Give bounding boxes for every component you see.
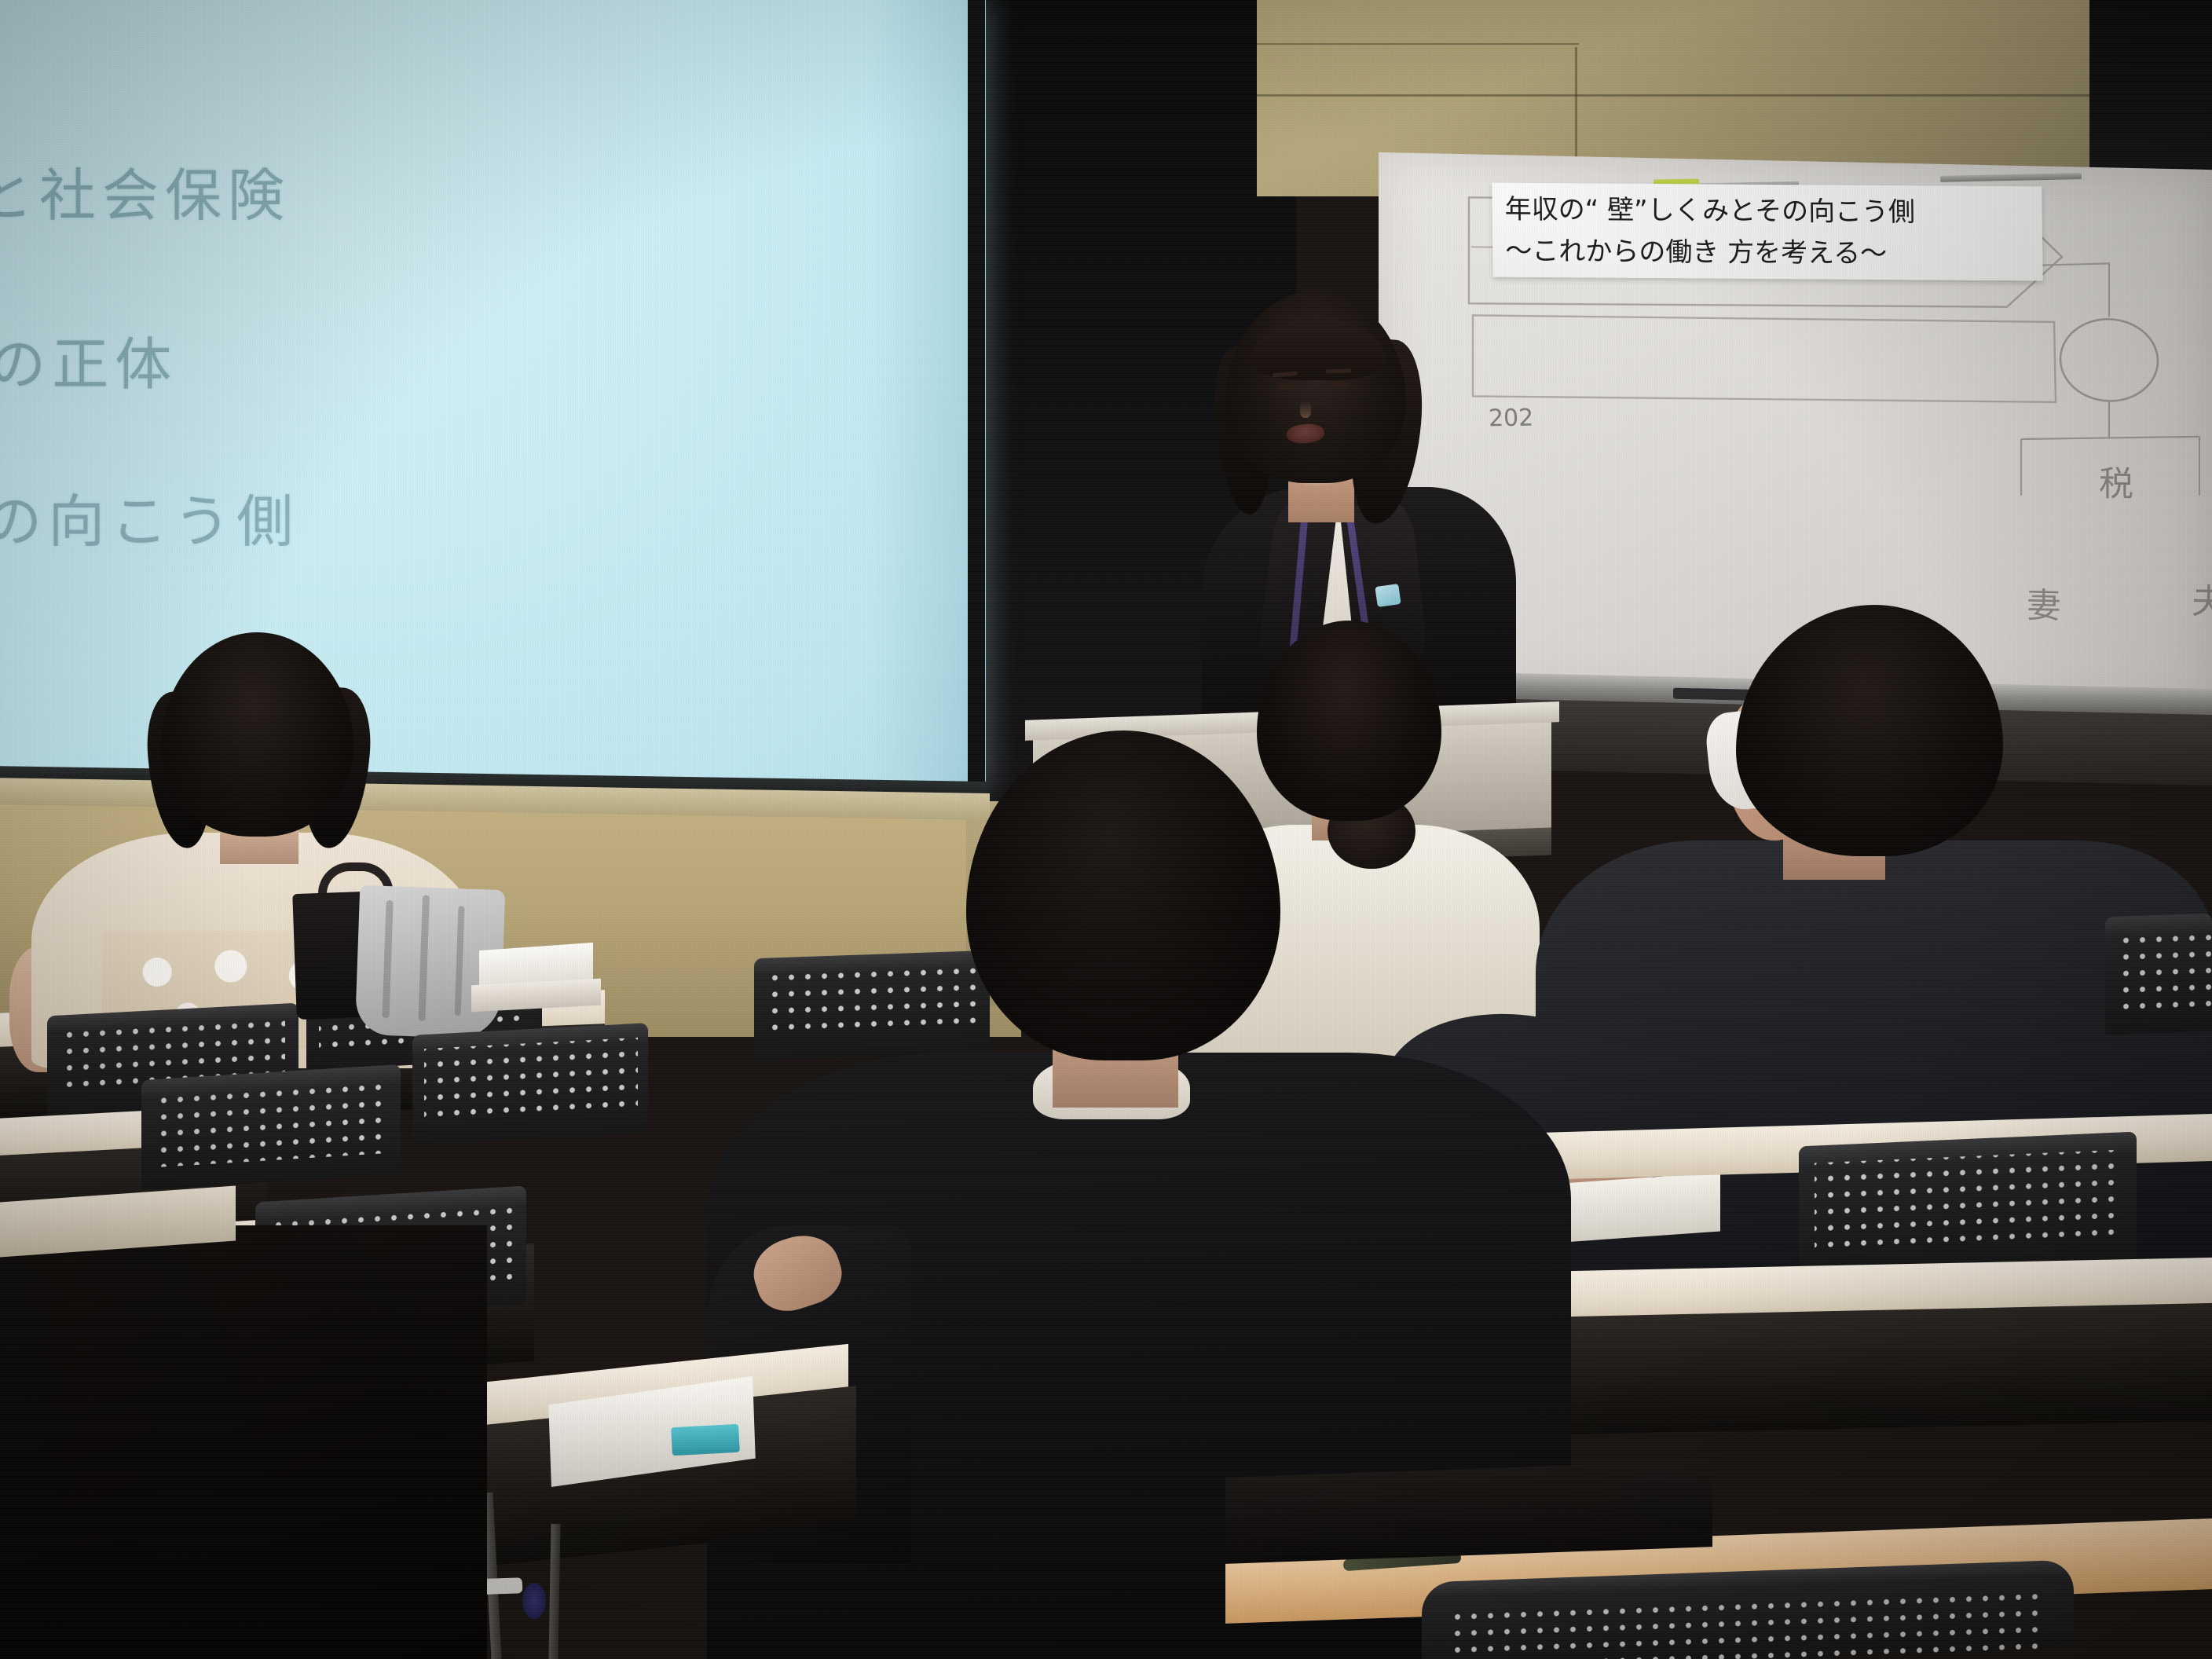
presenter-nose: [1300, 401, 1311, 418]
slide-line-2: ” の正体: [0, 318, 178, 401]
tripod-leg-3: [549, 1524, 561, 1659]
whiteboard-node-tax: 税: [2099, 456, 2133, 507]
seminar-room-photo: 方と社会保険 ” の正体 ” の向こう側 ) 202 税 妻 夫 年収の“ 壁”…: [0, 0, 2212, 1659]
whiteboard-title-line-1: 年収の“ 壁”しくみとその向こう側: [1504, 189, 2030, 234]
chair-row-b-1-mesh: [156, 1079, 390, 1167]
whiteboard-title-line-2: 〜これからの働き 方を考える〜: [1505, 230, 2031, 275]
slide-line-1: 方と社会保険: [0, 149, 291, 232]
whiteboard-node-wife: 妻: [2027, 577, 2061, 628]
foreground-shadow-left: [0, 1225, 487, 1659]
presenter-lapel-pin: [1375, 584, 1401, 607]
screen-right-edge: [968, 0, 985, 786]
desk-bottom-right-front: [1225, 1460, 1712, 1564]
handout-right-desk: [1551, 1172, 1720, 1243]
desk-right-lower-front: [1532, 1303, 2212, 1435]
slide-line-3: ” の向こう側: [0, 475, 299, 558]
chair-right-1-mesh: [2118, 929, 2212, 1011]
chair-right-2-mesh: [1815, 1149, 2122, 1251]
chair-row-b-2-mesh: [424, 1038, 638, 1121]
whiteboard-node-husband: 夫: [2192, 573, 2212, 624]
chair-row-a-3-mesh: [767, 962, 979, 1038]
slide-text-block: 方と社会保険 ” の正体 ” の向こう側 ): [0, 0, 966, 786]
whiteboard-title-card: 年収の“ 壁”しくみとその向こう側 〜これからの働き 方を考える〜: [1492, 183, 2042, 281]
blue-reflection: [522, 1583, 546, 1619]
teal-pencil-case: [671, 1424, 740, 1456]
